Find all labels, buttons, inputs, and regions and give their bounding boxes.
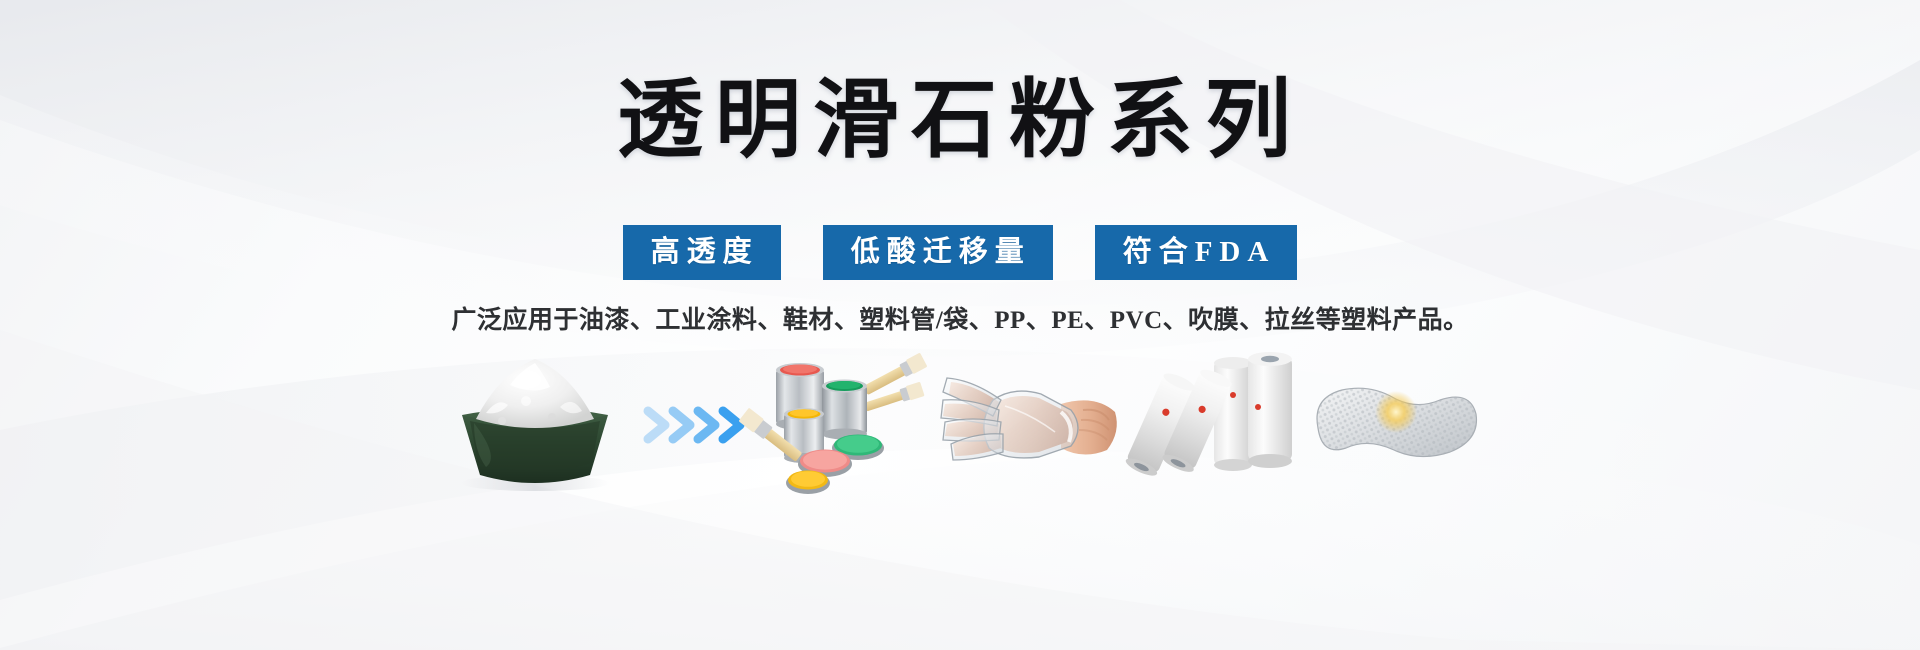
plastic-glove-hand-image [940, 352, 1125, 497]
chevron-4-icon [723, 411, 740, 439]
feature-badge-low-acid-migration[interactable]: 低酸迁移量 [823, 225, 1053, 280]
paint-cans-image [765, 352, 940, 497]
page-title: 透明滑石粉系列 [617, 72, 1303, 168]
sole-glow-highlight [1375, 391, 1417, 433]
shoe-sole-image [1305, 352, 1485, 497]
film-roll-right [1248, 352, 1292, 468]
chevron-2-icon [673, 411, 690, 439]
plastic-film-rolls-image [1125, 352, 1305, 497]
paint-can-green [822, 380, 867, 440]
chevron-1-icon [648, 411, 665, 439]
feature-badge-fda-compliant[interactable]: 符合FDA [1095, 225, 1298, 280]
feature-badge-group: 高透度 低酸迁移量 符合FDA [0, 225, 1920, 280]
chevron-3-icon [698, 411, 715, 439]
talc-powder-bowl-image [435, 352, 635, 497]
feature-badge-transparency[interactable]: 高透度 [623, 225, 781, 280]
application-description: 广泛应用于油漆、工业涂料、鞋材、塑料管/袋、PP、PE、PVC、吹膜、拉丝等塑料… [0, 300, 1920, 336]
product-banner: 透明滑石粉系列 高透度 低酸迁移量 符合FDA 广泛应用于油漆、工业涂料、鞋材、… [0, 0, 1920, 650]
title-block: 透明滑石粉系列 [0, 72, 1920, 168]
product-image-strip [0, 352, 1920, 512]
